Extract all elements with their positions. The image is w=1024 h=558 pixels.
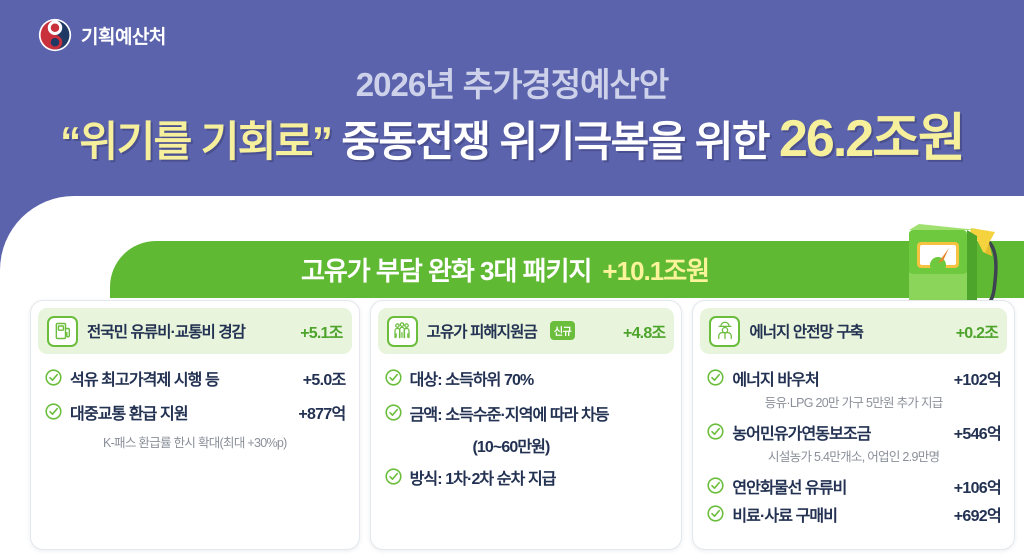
headline-amount: 26.2조원 xyxy=(779,110,964,168)
package-banner-amount: +10.1조원 xyxy=(602,251,709,288)
card-amount: +0.2조 xyxy=(956,319,998,343)
card-header: 고유가 피해지원금 신규 +4.8조 xyxy=(378,308,675,354)
card-body: 대상: 소득하위 70% 금액: 소득수준·지역에 따라 차등 (10~60만원… xyxy=(371,354,682,549)
item-label: 대상: 소득하위 70% xyxy=(410,366,534,390)
list-item: 금액: 소득수준·지역에 따라 차등 xyxy=(384,401,669,425)
list-item: 에너지 바우처 +102억 xyxy=(706,366,1001,390)
item-value: +5.0조 xyxy=(293,366,346,390)
item-label: 농어민유가연동보조금 xyxy=(732,420,870,444)
card-amount: +5.1조 xyxy=(300,319,342,343)
item-subtext: 시설농가 5.4만개소, 어업인 2.9만명 xyxy=(706,446,1001,465)
item-label: 에너지 바우처 xyxy=(732,366,818,390)
header-banner: 기획예산처 2026년 추가경정예산안 “위기를 기회로” 중동전쟁 위기극복을… xyxy=(0,0,1024,200)
card-body: 에너지 바우처 +102억 등유·LPG 20만 가구 5만원 추가 지급 농어… xyxy=(693,354,1014,549)
item-label: 금액: 소득수준·지역에 따라 차등 xyxy=(410,401,609,425)
card-highprice-relief[interactable]: 고유가 피해지원금 신규 +4.8조 대상: 소득하위 70% xyxy=(370,300,683,550)
headline: “위기를 기회로” 중동전쟁 위기극복을 위한 26.2조원 xyxy=(0,108,1024,173)
list-item: 방식: 1차·2차 순차 지급 xyxy=(384,465,669,489)
card-header: 에너지 안전망 구축 +0.2조 xyxy=(700,308,1007,354)
card-title: 전국민 유류비·교통비 경감 xyxy=(87,320,245,342)
card-header: 전국민 유류비·교통비 경감 +5.1조 xyxy=(38,308,352,354)
card-amount: +4.8조 xyxy=(623,319,665,343)
check-circle-icon xyxy=(706,368,725,387)
item-value: +546억 xyxy=(944,420,1001,444)
check-circle-icon xyxy=(44,402,63,421)
check-circle-icon xyxy=(384,403,403,422)
list-item: 농어민유가연동보조금 +546억 xyxy=(706,420,1001,444)
document-subtitle: 2026년 추가경정예산안 xyxy=(0,58,1024,106)
headline-main: 중동전쟁 위기극복을 위한 xyxy=(341,118,769,165)
item-label: 연안화물선 유류비 xyxy=(732,474,846,498)
item-value: +877억 xyxy=(288,400,345,424)
item-label: 석유 최고가격제 시행 등 xyxy=(70,366,219,390)
check-circle-icon xyxy=(706,422,725,441)
item-subtext: K-패스 환급률 한시 확대(최대 +30%p) xyxy=(44,432,346,451)
new-badge: 신규 xyxy=(550,321,575,340)
item-value: +102억 xyxy=(944,366,1001,390)
check-circle-icon xyxy=(706,476,725,495)
worker-icon xyxy=(709,316,740,347)
list-item: 연안화물선 유류비 +106억 xyxy=(706,474,1001,498)
list-item: 비료·사료 구매비 +692억 xyxy=(706,502,1001,526)
card-fuel-transport[interactable]: 전국민 유류비·교통비 경감 +5.1조 석유 최고가격제 시행 등 +5.0조 xyxy=(30,300,360,550)
agency-name: 기획예산처 xyxy=(81,22,166,49)
list-item: 대중교통 환급 지원 +877억 xyxy=(44,400,346,424)
taegeuk-icon xyxy=(38,18,72,52)
list-item: 대상: 소득하위 70% xyxy=(384,366,669,390)
card-title: 고유가 피해지원금 xyxy=(427,320,537,342)
headline-quote: “위기를 기회로” xyxy=(60,118,331,165)
package-banner-title: 고유가 부담 완화 3대 패키지 xyxy=(301,251,591,288)
agency-logo: 기획예산처 xyxy=(38,18,166,52)
item-label: 비료·사료 구매비 xyxy=(732,502,837,526)
check-circle-icon xyxy=(384,467,403,486)
package-cards: 전국민 유류비·교통비 경감 +5.1조 석유 최고가격제 시행 등 +5.0조 xyxy=(30,300,1015,550)
fuel-pump-icon xyxy=(47,316,78,347)
list-item: 석유 최고가격제 시행 등 +5.0조 xyxy=(44,366,346,390)
item-value: +692억 xyxy=(944,502,1001,526)
check-circle-icon xyxy=(44,368,63,387)
item-subtext: 등유·LPG 20만 가구 5만원 추가 지급 xyxy=(706,392,1001,411)
card-title: 에너지 안전망 구축 xyxy=(749,320,863,342)
card-energy-safetynet[interactable]: 에너지 안전망 구축 +0.2조 에너지 바우처 +102억 등유·LPG 20… xyxy=(692,300,1015,550)
infographic-root: 기획예산처 2026년 추가경정예산안 “위기를 기회로” 중동전쟁 위기극복을… xyxy=(0,0,1024,558)
item-continuation: (10~60만원) xyxy=(384,433,669,457)
item-label: 대중교통 환급 지원 xyxy=(70,400,188,424)
people-group-icon xyxy=(387,316,418,347)
item-value: +106억 xyxy=(944,474,1001,498)
item-label: 방식: 1차·2차 순차 지급 xyxy=(410,465,556,489)
check-circle-icon xyxy=(706,504,725,523)
package-banner: 고유가 부담 완화 3대 패키지 +10.1조원 xyxy=(110,241,1024,298)
check-circle-icon xyxy=(384,368,403,387)
card-body: 석유 최고가격제 시행 등 +5.0조 대중교통 환급 지원 +877억 xyxy=(31,354,359,549)
